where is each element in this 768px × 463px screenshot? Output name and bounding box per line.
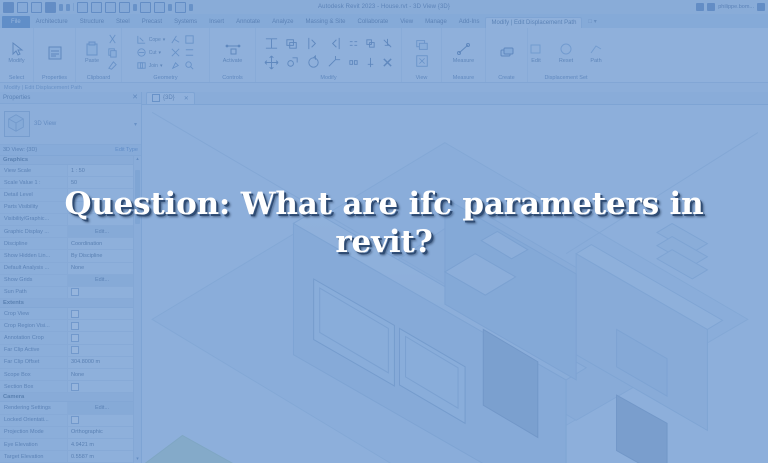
displacement-path-button[interactable]: Path xyxy=(583,41,609,64)
screenshot-root: Autodesk Revit 2023 - House.rvt - 3D Vie… xyxy=(0,0,768,463)
modify-button[interactable]: Modify xyxy=(4,41,30,64)
cope-icon xyxy=(136,34,147,45)
panel-label-geometry: Geometry xyxy=(153,75,177,82)
view-area: {3D} ✕ xyxy=(142,92,768,463)
type-selector-value[interactable]: 3D View xyxy=(34,121,130,127)
tab-analyze[interactable]: Analyze xyxy=(266,17,299,28)
ribbon-panel-clipboard: Paste Clipboard xyxy=(76,28,122,82)
tab-file[interactable]: File xyxy=(2,16,30,28)
activate-button-label: Activate xyxy=(223,58,243,64)
property-name: Far Clip Offset xyxy=(0,359,67,365)
property-name: Annotation Crop xyxy=(0,335,67,341)
cut-geometry-icon xyxy=(136,47,147,58)
property-row[interactable]: Crop Region Visi... xyxy=(0,320,133,332)
property-value[interactable]: 0.5587 m xyxy=(67,451,133,462)
property-name: Scale Value 1 : xyxy=(0,180,67,186)
property-value[interactable]: None xyxy=(67,369,133,380)
path-icon xyxy=(588,41,604,57)
modify-tool-buttons[interactable] xyxy=(264,36,393,70)
ribbon-panel-select: Modify Select xyxy=(0,28,34,82)
property-row[interactable]: Eye Elevation4.9421 m xyxy=(0,439,133,451)
tab-structure[interactable]: Structure xyxy=(74,17,110,28)
wall-joins-icon[interactable] xyxy=(184,34,195,45)
user-name[interactable]: philippe.bom... xyxy=(718,4,754,10)
type-selector[interactable]: 3D View ▾ xyxy=(0,104,141,145)
paint-icon[interactable] xyxy=(170,60,181,71)
properties-palette-header: Properties ✕ xyxy=(0,92,141,104)
demolish-icon[interactable] xyxy=(170,34,181,45)
edit-label: Edit xyxy=(531,58,540,64)
3d-view-icon xyxy=(152,94,160,102)
properties-button[interactable] xyxy=(42,45,68,61)
workspace: Properties ✕ 3D View ▾ 3D View: {3D} xyxy=(0,92,768,463)
ribbon-panel-displacement-set: Edit Reset Path Displacement Set xyxy=(528,28,604,82)
clipboard-small-buttons[interactable] xyxy=(107,34,118,71)
panel-label-view: View xyxy=(416,75,428,82)
mirror-pick-axis-icon[interactable] xyxy=(306,36,321,51)
measure-button[interactable]: Measure xyxy=(451,41,477,64)
property-group-graphics: Graphics xyxy=(0,156,133,165)
cut-button[interactable]: Cut ▾ xyxy=(136,47,165,58)
panel-label-select: Select xyxy=(9,75,24,82)
panel-label-modify: Modify xyxy=(320,75,336,82)
tab-precast[interactable]: Precast xyxy=(136,17,168,28)
reset-displacement-icon xyxy=(558,41,574,57)
checkbox[interactable] xyxy=(71,288,79,296)
3d-viewport[interactable] xyxy=(142,105,768,463)
tab-architecture[interactable]: Architecture xyxy=(30,17,74,28)
close-icon[interactable]: ✕ xyxy=(132,94,138,101)
ribbon-panel-view: View xyxy=(402,28,442,82)
measure-between-icon xyxy=(456,41,472,57)
edit-type-button[interactable]: Edit Type xyxy=(115,147,138,153)
ribbon-tab-strip[interactable]: File Architecture Structure Steel Precas… xyxy=(0,14,768,28)
activate-controls-icon xyxy=(225,41,241,57)
panel-label-displacement-set: Displacement Set xyxy=(544,75,587,82)
cursor-arrow-icon xyxy=(9,41,25,57)
property-name: Crop Region Visi... xyxy=(0,323,67,329)
tab-steel[interactable]: Steel xyxy=(110,17,136,28)
cope-caret-icon[interactable]: ▾ xyxy=(163,37,166,43)
align-geometry-icon[interactable] xyxy=(184,47,195,58)
edit-displacement-button[interactable]: Edit xyxy=(523,41,549,64)
property-edit-button[interactable]: Edit... xyxy=(67,402,133,413)
property-value[interactable]: Orthographic xyxy=(67,427,133,438)
title-bar: Autodesk Revit 2023 - House.rvt - 3D Vie… xyxy=(0,0,768,14)
cope-button[interactable]: Cope ▾ xyxy=(136,34,165,45)
join-caret-icon[interactable]: ▾ xyxy=(160,63,163,69)
instance-header-row: 3D View: {3D} Edit Type xyxy=(0,145,141,156)
join-label: Join xyxy=(149,63,158,69)
split-face-icon[interactable] xyxy=(170,47,181,58)
reset-label: Reset xyxy=(559,58,573,64)
property-name: Projection Mode xyxy=(0,429,67,435)
cope-label: Cope xyxy=(149,37,161,43)
property-edit-button[interactable]: Edit... xyxy=(67,275,133,286)
zoom-region-icon[interactable] xyxy=(184,60,195,71)
ribbon-panel-measure: Measure Measure xyxy=(442,28,486,82)
property-row[interactable]: Crop View xyxy=(0,308,133,320)
property-row[interactable]: Far Clip Offset304.8000 m xyxy=(0,357,133,369)
help-icon[interactable] xyxy=(696,3,704,11)
ribbon-panel-controls: Activate Controls xyxy=(210,28,256,82)
edit-displacement-icon xyxy=(528,41,544,57)
activate-button[interactable]: Activate xyxy=(220,41,246,64)
ribbon-panel-properties: Properties xyxy=(34,28,76,82)
property-row[interactable]: View Scale1 : 50 xyxy=(0,165,133,177)
copy-icon[interactable] xyxy=(107,47,118,58)
panel-label-controls: Controls xyxy=(222,75,242,82)
cut-label: Cut xyxy=(149,50,157,56)
3d-model-render xyxy=(142,105,768,463)
rotate-icon[interactable] xyxy=(306,55,321,70)
checkbox[interactable] xyxy=(71,310,79,318)
tab-add-ins[interactable]: Add-Ins xyxy=(453,17,486,28)
copy-move-icon[interactable] xyxy=(285,55,300,70)
3d-view-thumbnail-icon xyxy=(4,111,30,137)
checkbox[interactable] xyxy=(71,383,79,391)
property-row[interactable]: Annotation Crop xyxy=(0,332,133,344)
property-name: Eye Elevation xyxy=(0,442,67,448)
properties-panel-icon xyxy=(47,45,63,61)
property-name: Locked Orientati... xyxy=(0,417,67,423)
tab-manage[interactable]: Manage xyxy=(419,17,453,28)
ribbon[interactable]: Modify Select Propertie xyxy=(0,28,768,83)
checkbox[interactable] xyxy=(71,334,79,342)
page-title: Question: What are ifc parameters in rev… xyxy=(0,186,768,262)
close-icon[interactable]: ✕ xyxy=(184,95,189,102)
geometry-small-buttons[interactable] xyxy=(170,34,195,71)
view-tab-label: {3D} xyxy=(163,95,175,101)
mirror-draw-axis-icon[interactable] xyxy=(327,36,342,51)
tab-systems[interactable]: Systems xyxy=(168,17,203,28)
properties-palette[interactable]: Properties ✕ 3D View ▾ 3D View: {3D} xyxy=(0,92,142,463)
property-row[interactable]: Default Analysis ...None xyxy=(0,263,133,275)
delete-icon[interactable] xyxy=(382,57,393,68)
property-group-extents: Extents xyxy=(0,299,133,308)
view-tab-3d[interactable]: {3D} ✕ xyxy=(146,92,195,104)
properties-title: Properties xyxy=(3,95,30,101)
property-name: Scope Box xyxy=(0,372,67,378)
trim-extend-icon[interactable] xyxy=(327,55,342,70)
ribbon-panel-geometry: Cope ▾ Cut ▾ Join ▾ xyxy=(122,28,210,82)
panel-label-properties: Properties xyxy=(42,75,67,82)
move-icon[interactable] xyxy=(264,55,279,70)
chevron-down-icon[interactable]: ▾ xyxy=(134,121,137,128)
property-row[interactable]: Sun Path xyxy=(0,287,133,299)
property-row[interactable]: Target Elevation0.5587 m xyxy=(0,451,133,463)
cut-icon[interactable] xyxy=(107,34,118,45)
property-value[interactable]: 4.9421 m xyxy=(67,439,133,450)
property-row[interactable]: Show GridsEdit... xyxy=(0,275,133,287)
unpin-icon[interactable] xyxy=(382,38,393,49)
array-icon[interactable] xyxy=(348,38,359,49)
view-tab-strip[interactable]: {3D} ✕ xyxy=(142,92,768,105)
window-title: Autodesk Revit 2023 - House.rvt - 3D Vie… xyxy=(0,4,768,10)
property-value[interactable]: 1 : 50 xyxy=(67,165,133,176)
scale-icon[interactable] xyxy=(365,38,376,49)
user-icon[interactable] xyxy=(707,3,715,11)
paste-button[interactable]: Paste xyxy=(79,41,105,64)
measure-button-label: Measure xyxy=(453,58,474,64)
panel-label-create: Create xyxy=(498,75,515,82)
scroll-down-icon[interactable]: ▾ xyxy=(134,456,141,463)
tab-view[interactable]: View xyxy=(394,17,419,28)
property-value[interactable]: 304.8000 m xyxy=(67,357,133,368)
property-row[interactable]: Projection ModeOrthographic xyxy=(0,427,133,439)
property-name: Crop View xyxy=(0,311,67,317)
split-element-icon[interactable] xyxy=(348,57,359,68)
match-type-icon[interactable] xyxy=(107,60,118,71)
panel-label-clipboard: Clipboard xyxy=(87,75,111,82)
ribbon-panel-modify: Modify xyxy=(256,28,402,82)
property-name: Far Clip Active xyxy=(0,347,67,353)
path-label: Path xyxy=(590,58,601,64)
property-row[interactable]: Locked Orientati... xyxy=(0,415,133,427)
pin-icon[interactable] xyxy=(365,57,376,68)
tab-modify-edit-displacement-path[interactable]: Modify | Edit Displacement Path xyxy=(485,17,582,28)
property-name: Target Elevation xyxy=(0,454,67,460)
cube-icon xyxy=(5,112,27,134)
property-row[interactable]: Far Clip Active xyxy=(0,345,133,357)
view-tool-buttons[interactable] xyxy=(415,38,429,68)
modify-button-label: Modify xyxy=(8,58,24,64)
checkbox[interactable] xyxy=(71,346,79,354)
property-row[interactable]: Section Box xyxy=(0,381,133,393)
cart-icon[interactable] xyxy=(757,3,765,11)
property-group-camera: Camera xyxy=(0,393,133,402)
paste-button-label: Paste xyxy=(85,58,99,64)
tab-annotate[interactable]: Annotate xyxy=(230,17,266,28)
property-name: View Scale xyxy=(0,168,67,174)
property-row[interactable]: Rendering SettingsEdit... xyxy=(0,402,133,414)
instance-name: 3D View: {3D} xyxy=(3,147,37,153)
align-icon[interactable] xyxy=(264,36,279,51)
property-name: Sun Path xyxy=(0,289,67,295)
property-name: Default Analysis ... xyxy=(0,265,67,271)
property-name: Show Grids xyxy=(0,277,67,283)
create-similar-button[interactable] xyxy=(494,45,520,61)
checkbox[interactable] xyxy=(71,416,79,424)
tab-collaborate[interactable]: Collaborate xyxy=(352,17,395,28)
reset-displacement-button[interactable]: Reset xyxy=(553,41,579,64)
create-similar-icon xyxy=(499,45,515,61)
property-row[interactable]: Scope BoxNone xyxy=(0,369,133,381)
property-name: Rendering Settings xyxy=(0,405,67,411)
tab-insert[interactable]: Insert xyxy=(203,17,230,28)
tab-massing-site[interactable]: Massing & Site xyxy=(299,17,351,28)
panel-label-measure: Measure xyxy=(453,75,474,82)
offset-icon[interactable] xyxy=(285,36,300,51)
close-inactive-views-icon[interactable] xyxy=(415,54,429,68)
cut-caret-icon[interactable]: ▾ xyxy=(159,50,162,56)
account-area[interactable]: philippe.bom... xyxy=(696,3,765,11)
join-button[interactable]: Join ▾ xyxy=(136,60,165,71)
property-value[interactable]: None xyxy=(67,263,133,274)
property-name: Section Box xyxy=(0,384,67,390)
scroll-up-icon[interactable]: ▴ xyxy=(134,156,141,163)
checkbox[interactable] xyxy=(71,322,79,330)
paste-icon xyxy=(84,41,100,57)
tab-overflow-icon[interactable]: □ ▾ xyxy=(582,16,602,28)
join-icon xyxy=(136,60,147,71)
switch-window-icon[interactable] xyxy=(415,38,429,52)
